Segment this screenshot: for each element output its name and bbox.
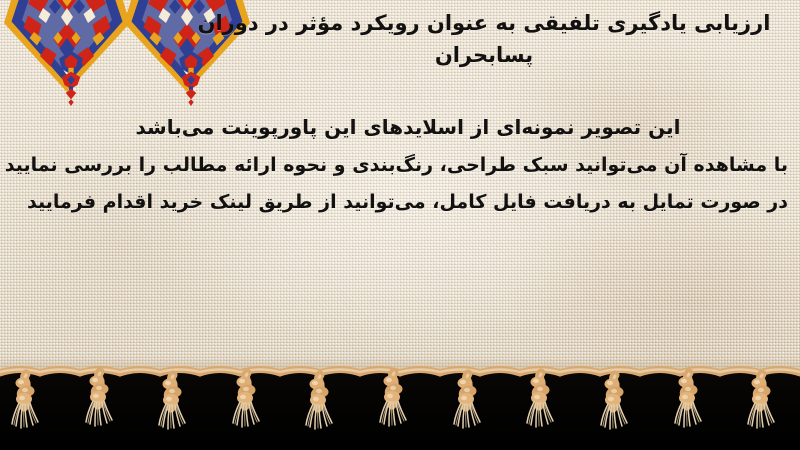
slide-canvas: ارزیابی یادگیری تلفیقی به عنوان رویکرد م… [0, 0, 800, 450]
body-line-1: این تصویر نمونه‌ای از اسلایدهای این پاور… [28, 108, 788, 147]
slide-body: این تصویر نمونه‌ای از اسلایدهای این پاور… [28, 108, 788, 221]
body-line-2: با مشاهده آن می‌توانید سبک طراحی، رنگ‌بن… [28, 147, 788, 184]
slide-title: ارزیابی یادگیری تلفیقی به عنوان رویکرد م… [180, 8, 788, 72]
slide-text-layer: ارزیابی یادگیری تلفیقی به عنوان رویکرد م… [0, 0, 800, 380]
body-line-3: در صورت تمایل به دریافت فایل کامل، می‌تو… [28, 184, 788, 221]
slide-title-line-1: ارزیابی یادگیری تلفیقی به عنوان رویکرد م… [198, 11, 771, 35]
carpet-black-border-band [0, 372, 800, 450]
slide-title-line-2: پسابحران [435, 43, 533, 67]
